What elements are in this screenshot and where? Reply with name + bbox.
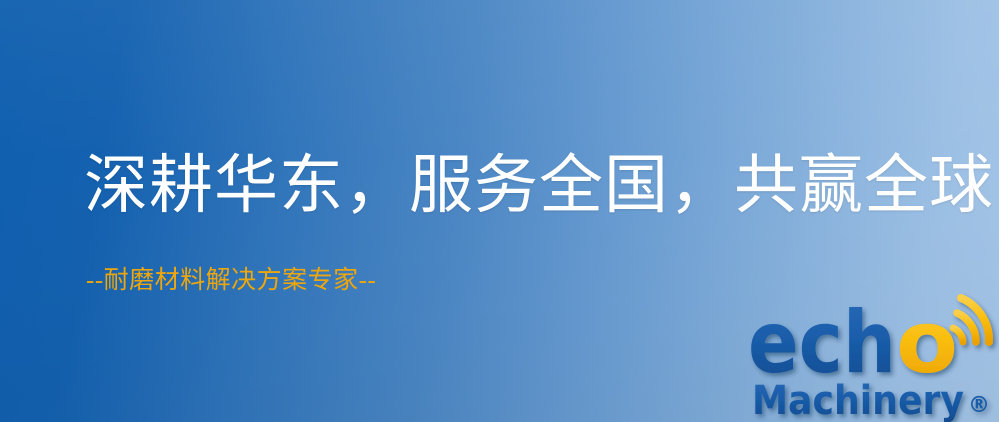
- hero-banner: 深耕华东，服务全国，共赢全球 --耐磨材料解决方案专家--: [0, 0, 999, 422]
- banner-subtitle: --耐磨材料解决方案专家--: [86, 266, 376, 296]
- registered-trademark-icon: ®: [968, 393, 990, 418]
- signal-waves-icon: [953, 298, 989, 342]
- logo-tagline-text: Machinery: [752, 378, 964, 422]
- logo-tagline-group: Machinery ®: [752, 378, 990, 422]
- echo-machinery-logo[interactable]: ech o Machinery ®: [748, 292, 999, 422]
- banner-headline: 深耕华东，服务全国，共赢全球: [84, 152, 994, 219]
